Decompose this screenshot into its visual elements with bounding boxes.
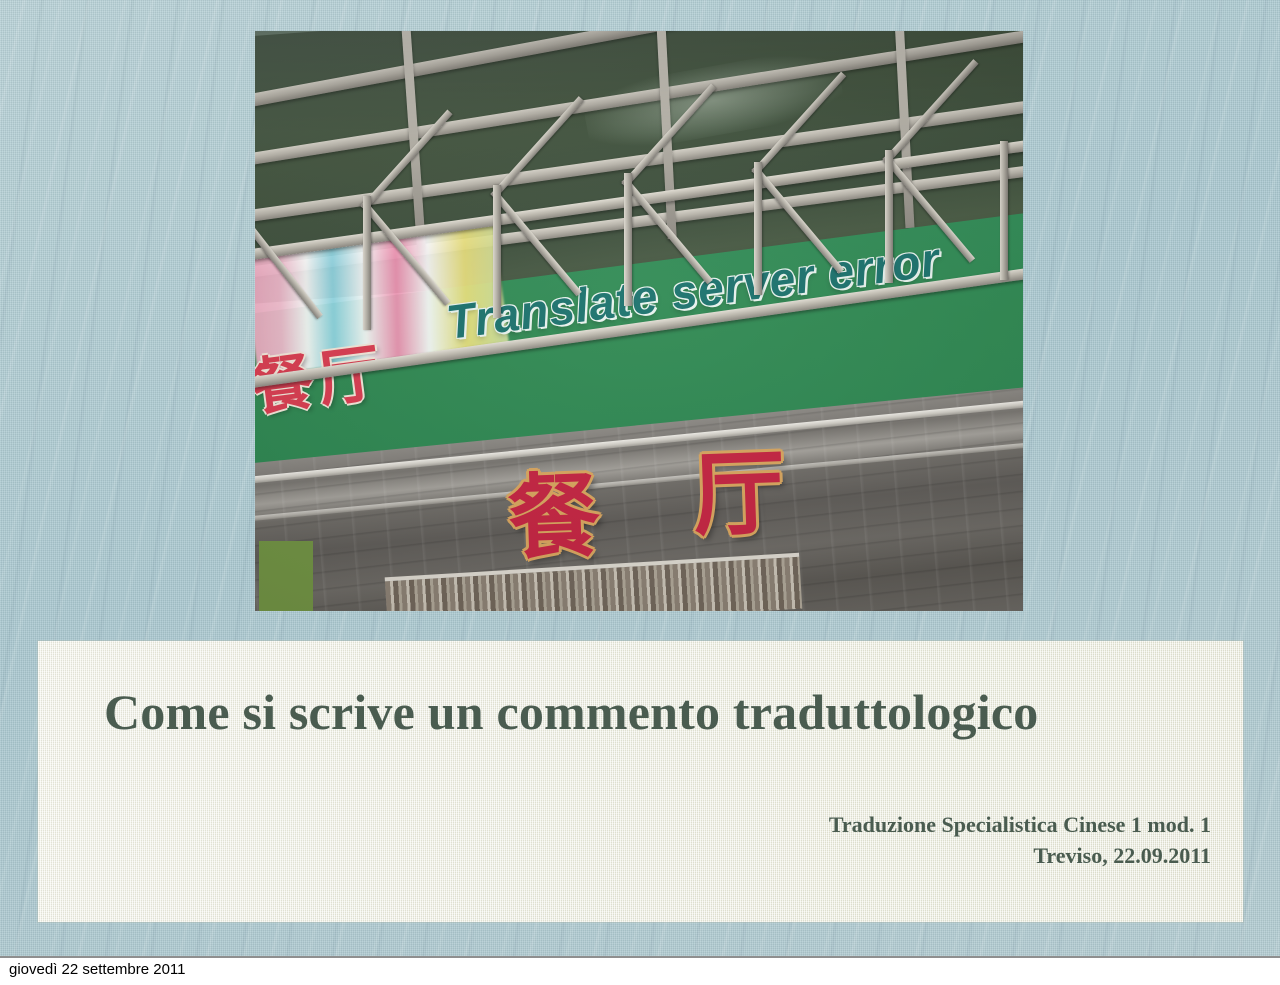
slide-text-card: Come si scrive un commento traduttologic… [38, 641, 1243, 922]
footer-date: giovedì 22 settembre 2011 [9, 961, 186, 978]
truss-post-5 [885, 150, 893, 283]
truss-post-1 [363, 196, 371, 329]
subtitle-line-place-date: Treviso, 22.09.2011 [451, 840, 1211, 871]
photo-green-corner-patch [259, 541, 313, 611]
slide-photo: 餐厅 Translate server error 餐 厅 [255, 31, 1023, 611]
slide-subtitle: Traduzione Specialistica Cinese 1 mod. 1… [451, 809, 1211, 871]
subtitle-line-course: Traduzione Specialistica Cinese 1 mod. 1 [451, 809, 1211, 840]
slide-bottom-divider [0, 956, 1280, 958]
slide-title: Come si scrive un commento traduttologic… [104, 686, 1214, 739]
truss-post-6 [1000, 141, 1008, 280]
truss-post-3 [624, 173, 632, 306]
truss-post-4 [754, 162, 762, 295]
presentation-slide: 餐厅 Translate server error 餐 厅 [0, 0, 1280, 958]
truss-post-2 [493, 185, 501, 318]
facade-chinese-char-2: 厅 [691, 447, 786, 542]
facade-chinese-char-1: 餐 [507, 470, 602, 565]
